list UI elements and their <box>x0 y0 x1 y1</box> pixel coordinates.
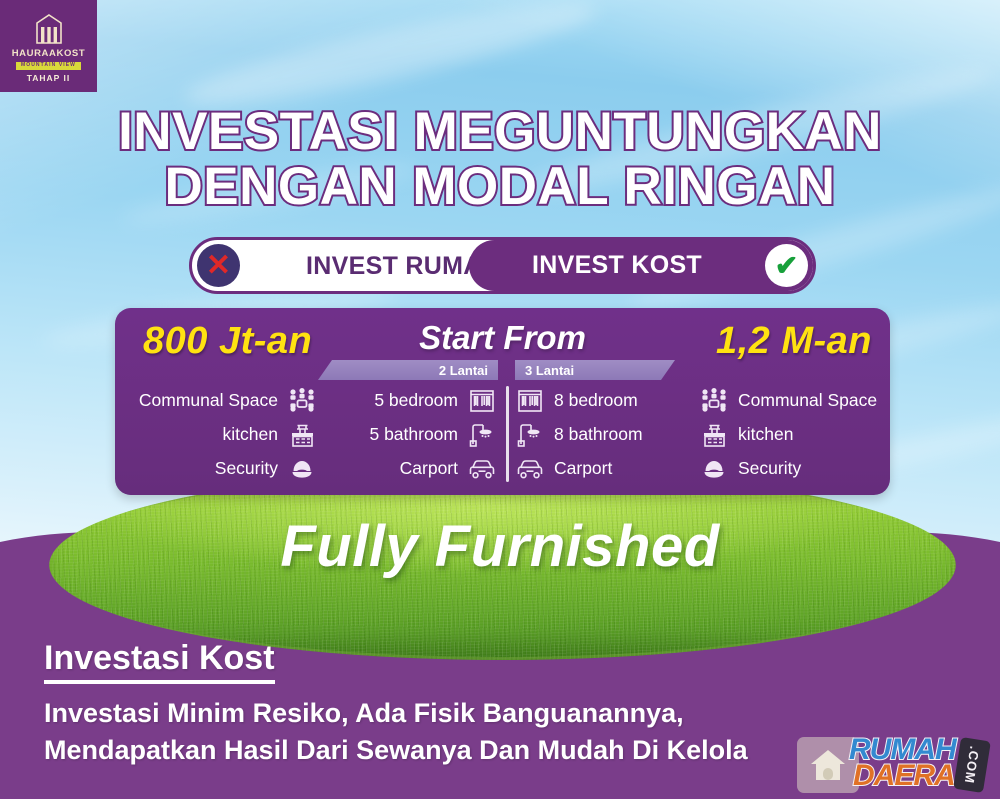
amenities-right: Communal Space kitchen <box>699 384 894 486</box>
amenity-label: kitchen <box>738 424 793 445</box>
specs-3-lantai: 8 bedroom 8 bathroom <box>515 384 690 486</box>
headline-line-1: INVESTASI MEGUNTUNGKAN <box>118 102 882 161</box>
list-item: kitchen <box>137 418 317 451</box>
logo-name: HAURAAKOST <box>12 49 86 59</box>
headline-line-2: DENGAN MODAL RINGAN <box>0 159 1000 214</box>
list-item: Communal Space <box>699 384 894 417</box>
list-item: Security <box>137 452 317 485</box>
page-title: INVESTASI MEGUNTUNGKAN DENGAN MODAL RING… <box>0 104 1000 214</box>
fully-furnished-banner: Fully Furnished <box>0 513 1000 580</box>
bathroom-shower-icon <box>467 421 497 449</box>
spec-label: 8 bedroom <box>554 390 638 411</box>
bedroom-icon <box>467 387 497 415</box>
building-gate-icon <box>32 14 66 44</box>
amenity-label: Security <box>738 458 801 479</box>
brand-logo: HAURAAKOST MOUNTAIN VIEW TAHAP II <box>0 0 97 92</box>
spec-label: 8 bathroom <box>554 424 643 445</box>
bottom-line-2: Mendapatkan Hasil Dari Sewanya Dan Mudah… <box>44 732 904 769</box>
watermark-tld: .COM <box>953 737 991 793</box>
ribbon-2-lantai-label: 2 Lantai <box>439 364 488 377</box>
list-item: Security <box>699 452 894 485</box>
ribbon-3-lantai-label: 3 Lantai <box>525 364 574 377</box>
list-item: Communal Space <box>137 384 317 417</box>
list-item: 5 bathroom <box>327 418 497 451</box>
poster-canvas: HAURAAKOST MOUNTAIN VIEW TAHAP II INVEST… <box>0 0 1000 799</box>
list-item: 8 bathroom <box>515 418 690 451</box>
spec-label: Carport <box>554 458 612 479</box>
ribbon-2-lantai: 2 Lantai <box>318 360 498 380</box>
toggle-option-invest-kost[interactable]: INVEST KOST ✔ <box>469 240 813 291</box>
ribbon-3-lantai: 3 Lantai <box>515 360 675 380</box>
amenity-label: Security <box>215 458 278 479</box>
carport-car-icon <box>467 455 497 483</box>
kitchen-icon <box>699 421 729 449</box>
kitchen-icon <box>287 421 317 449</box>
x-mark-icon: ✕ <box>197 244 240 287</box>
bottom-copy: Investasi Kost Investasi Minim Resiko, A… <box>44 638 904 769</box>
communal-space-icon <box>699 387 729 415</box>
logo-phase: TAHAP II <box>27 74 71 83</box>
invest-type-toggle[interactable]: ✕ INVEST RUMAH INVEST KOST ✔ <box>189 237 816 294</box>
security-cap-icon <box>699 455 729 483</box>
watermark: RUMAH DAERAH .COM <box>797 733 997 797</box>
bottom-heading: Investasi Kost <box>44 638 275 684</box>
list-item: 8 bedroom <box>515 384 690 417</box>
check-mark-icon: ✔ <box>765 244 808 287</box>
bottom-line-1: Investasi Minim Resiko, Ada Fisik Bangua… <box>44 695 904 732</box>
list-item: kitchen <box>699 418 894 451</box>
spec-label: Carport <box>400 458 458 479</box>
specs-panel: 800 Jt-an Start From 1,2 M-an 2 Lantai 3… <box>115 308 890 495</box>
amenities-left: Communal Space kitchen <box>137 384 317 486</box>
logo-badge: MOUNTAIN VIEW <box>16 62 81 70</box>
watermark-tld-label: .COM <box>962 745 983 785</box>
amenity-label: kitchen <box>223 424 278 445</box>
carport-car-icon <box>515 455 545 483</box>
spec-label: 5 bathroom <box>369 424 458 445</box>
list-item: Carport <box>515 452 690 485</box>
amenity-label: Communal Space <box>738 390 877 411</box>
check-glyph: ✔ <box>775 252 798 280</box>
specs-2-lantai: 5 bedroom 5 bathroom <box>327 384 497 486</box>
list-item: Carport <box>327 452 497 485</box>
x-glyph: ✕ <box>206 251 231 281</box>
bedroom-icon <box>515 387 545 415</box>
amenity-label: Communal Space <box>139 390 278 411</box>
spec-label: 5 bedroom <box>374 390 458 411</box>
security-cap-icon <box>287 455 317 483</box>
list-item: 5 bedroom <box>327 384 497 417</box>
toggle-option-invest-kost-label: INVEST KOST <box>532 251 702 280</box>
bathroom-shower-icon <box>515 421 545 449</box>
panel-divider <box>506 386 509 482</box>
price-right: 1,2 M-an <box>716 320 872 363</box>
communal-space-icon <box>287 387 317 415</box>
